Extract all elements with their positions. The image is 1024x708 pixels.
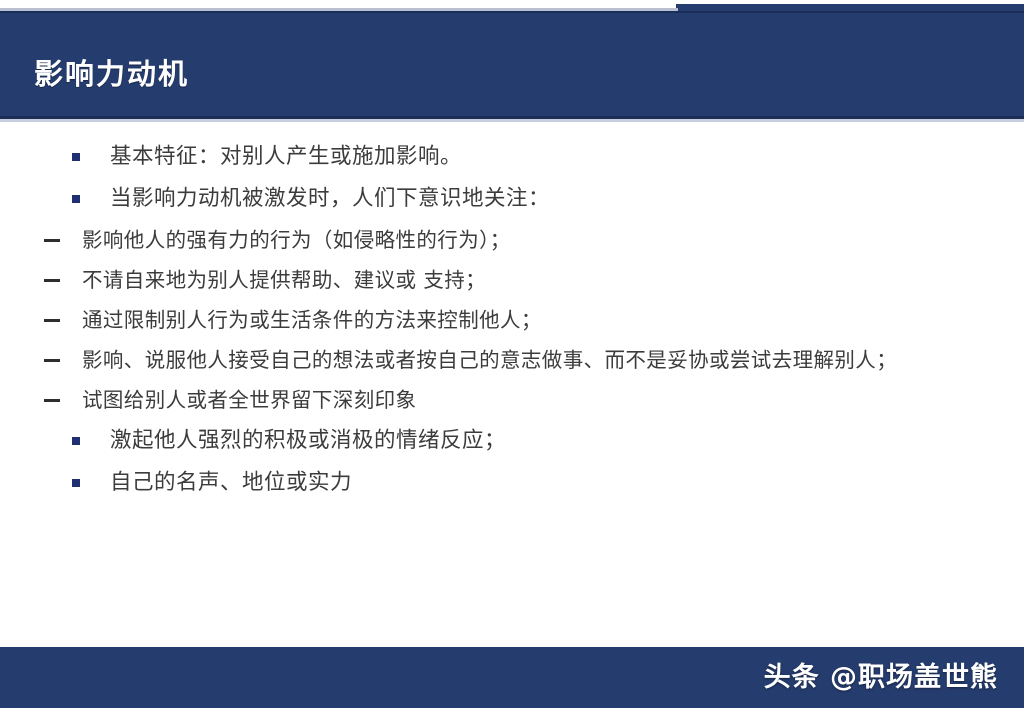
dash-bullet-icon: [44, 279, 60, 282]
list-item: 通过限制别人行为或生活条件的方法来控制他人；: [38, 304, 912, 336]
dash-bullet-icon: [44, 319, 60, 322]
sub-bullet-text: 影响他人的强有力的行为（如侵略性的行为）；: [82, 228, 511, 252]
list-item: 不请自来地为别人提供帮助、建议或 支持；: [38, 264, 912, 296]
slide-title: 影响力动机: [34, 57, 189, 91]
watermark-handle: @职场盖世熊: [830, 662, 998, 693]
bullet-text: 自己的名声、地位或实力: [110, 470, 352, 495]
watermark-brand: 头条: [764, 662, 820, 693]
presentation-slide: 影响力动机 基本特征：对别人产生或施加影响。 当影响力动机被激发时，人们下意识地…: [0, 0, 1024, 708]
sub-bullet-list: 影响他人的强有力的行为（如侵略性的行为）； 不请自来地为别人提供帮助、建议或 支…: [0, 224, 1024, 416]
watermark: 头条 @职场盖世熊: [764, 661, 998, 694]
list-item: 试图给别人或者全世界留下深刻印象: [38, 384, 912, 416]
dash-bullet-icon: [44, 359, 60, 362]
list-item: 激起他人强烈的积极或消极的情绪反应；: [62, 424, 1024, 457]
slide-body: 基本特征：对别人产生或施加影响。 当影响力动机被激发时，人们下意识地关注： 影响…: [0, 140, 1024, 640]
header-underline-rule: [0, 119, 1024, 122]
square-bullet-icon: [72, 195, 80, 203]
sub-bullet-text: 不请自来地为别人提供帮助、建议或 支持；: [82, 268, 486, 292]
bullet-list: 基本特征：对别人产生或施加影响。 当影响力动机被激发时，人们下意识地关注： 影响…: [0, 140, 1024, 499]
square-bullet-icon: [72, 153, 80, 161]
bullet-text: 基本特征：对别人产生或施加影响。: [110, 144, 462, 169]
list-item: 自己的名声、地位或实力: [62, 466, 1024, 499]
list-item: 基本特征：对别人产生或施加影响。: [62, 140, 1024, 173]
bullet-text: 当影响力动机被激发时，人们下意识地关注：: [110, 186, 550, 211]
slide-footer-band: 头条 @职场盖世熊: [0, 647, 1024, 708]
bullet-text: 激起他人强烈的积极或消极的情绪反应；: [110, 428, 506, 453]
dash-bullet-icon: [44, 399, 60, 402]
square-bullet-icon: [72, 479, 80, 487]
sub-bullet-text: 通过限制别人行为或生活条件的方法来控制他人；: [82, 308, 542, 332]
list-item: 当影响力动机被激发时，人们下意识地关注：: [62, 182, 1024, 215]
header-band-top-shadow: [0, 11, 1024, 13]
sub-bullet-text: 影响、说服他人接受自己的想法或者按自己的意志做事、而不是妥协或尝试去理解别人；: [82, 348, 897, 372]
list-item: 影响他人的强有力的行为（如侵略性的行为）；: [38, 224, 912, 256]
dash-bullet-icon: [44, 239, 60, 242]
sub-bullet-text: 试图给别人或者全世界留下深刻印象: [82, 388, 416, 412]
square-bullet-icon: [72, 437, 80, 445]
list-item: 影响、说服他人接受自己的想法或者按自己的意志做事、而不是妥协或尝试去理解别人；: [38, 344, 912, 376]
